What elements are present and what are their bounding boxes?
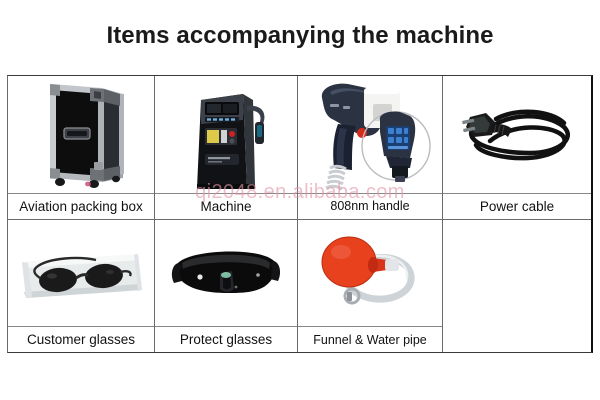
item-label: Funnel & Water pipe xyxy=(313,333,426,347)
item-cell-808nm-handle[interactable]: 808nm handle xyxy=(298,76,443,219)
caption-bar: 808nm handle xyxy=(298,193,442,219)
protect-glasses-image xyxy=(166,235,286,311)
customer-glasses-image xyxy=(16,236,146,310)
item-cell-aviation-packing-box[interactable]: Aviation packing box xyxy=(8,76,155,219)
power-cable-thumb xyxy=(443,76,591,193)
item-label: Aviation packing box xyxy=(19,199,143,214)
item-cell-customer-glasses[interactable]: Customer glasses xyxy=(8,220,155,352)
caption-bar-empty xyxy=(443,326,591,352)
machine-tower-image xyxy=(171,76,281,192)
item-cell-empty xyxy=(443,220,591,352)
table-row: Aviation packing box xyxy=(8,76,591,219)
item-label: Customer glasses xyxy=(27,332,135,347)
funnel-water-pipe-thumb xyxy=(298,220,442,326)
caption-bar: Aviation packing box xyxy=(8,193,154,219)
808nm-handle-thumb xyxy=(298,76,442,193)
item-label: Power cable xyxy=(480,199,554,214)
caption-bar: Power cable xyxy=(443,193,591,219)
item-label: Protect glasses xyxy=(180,332,272,347)
page-title: Items accompanying the machine xyxy=(0,22,600,50)
customer-glasses-thumb xyxy=(8,220,154,326)
power-cable-image xyxy=(452,79,582,189)
item-label: 808nm handle xyxy=(330,199,409,213)
screenshot-root: Items accompanying the machine xyxy=(0,0,600,400)
empty-thumb xyxy=(443,220,591,326)
item-cell-power-cable[interactable]: Power cable xyxy=(443,76,591,219)
caption-bar: Funnel & Water pipe xyxy=(298,326,442,352)
table-row: Customer glasses xyxy=(8,219,591,352)
item-cell-machine[interactable]: Machine xyxy=(155,76,298,219)
protect-glasses-thumb xyxy=(155,220,297,326)
machine-thumb xyxy=(155,76,297,193)
funnel-water-pipe-image xyxy=(307,230,433,316)
item-label: Machine xyxy=(200,199,251,214)
item-cell-funnel-water-pipe[interactable]: Funnel & Water pipe xyxy=(298,220,443,352)
aviation-packing-box-thumb xyxy=(8,76,154,193)
items-table: Aviation packing box xyxy=(7,75,593,353)
808nm-handle-image xyxy=(300,76,440,192)
caption-bar: Protect glasses xyxy=(155,326,297,352)
caption-bar: Customer glasses xyxy=(8,326,154,352)
item-cell-protect-glasses[interactable]: Protect glasses xyxy=(155,220,298,352)
caption-bar: Machine xyxy=(155,193,297,219)
aviation-packing-box-image xyxy=(22,76,140,192)
